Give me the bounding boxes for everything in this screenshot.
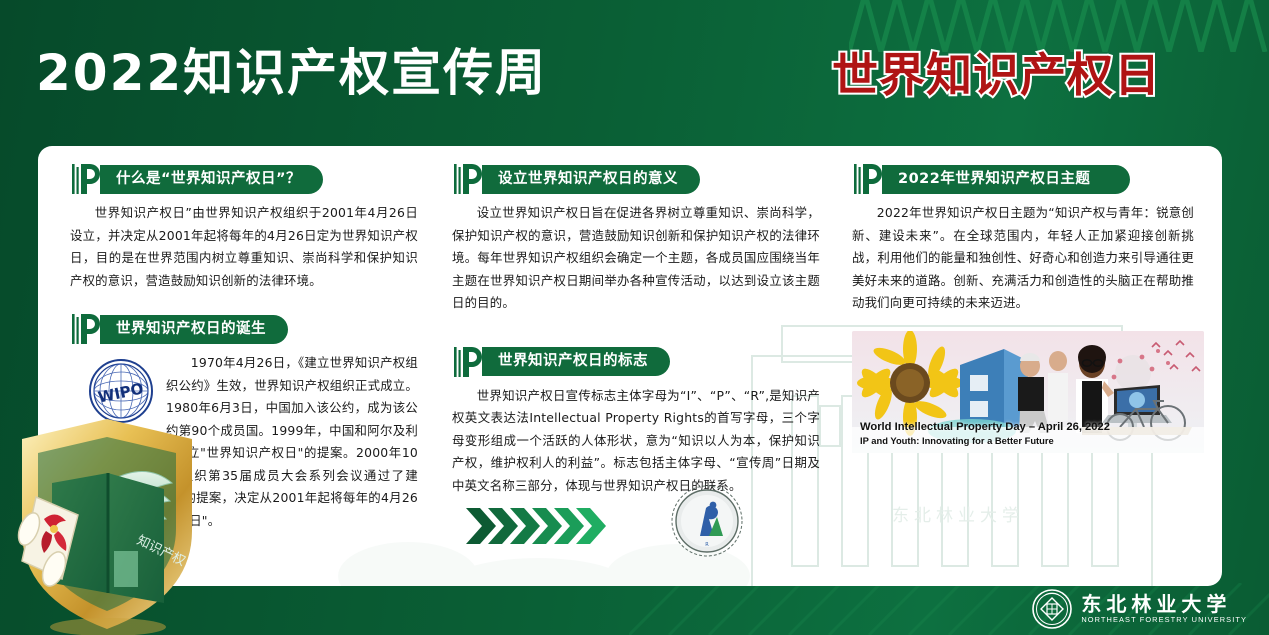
section-title-what-is: 什么是“世界知识产权日”？	[100, 165, 323, 194]
section-header-birth: 世界知识产权日的诞生	[70, 314, 418, 344]
ip-logo-icon	[452, 345, 488, 379]
section-title-significance: 设立世界知识产权日的意义	[482, 165, 700, 194]
wipo-campaign-caption: World Intellectual Property Day – April …	[860, 420, 1110, 447]
section-header-theme: 2022年世界知识产权日主题	[852, 164, 1194, 194]
campaign-caption-line2: IP and Youth: Innovating for a Better Fu…	[860, 434, 1110, 447]
university-name-cn: 东北林业大学	[1081, 593, 1247, 615]
section-body-logo-meaning: 世界知识产权日宣传标志主体字母为“I”、“P”、“R”,是知识产权英文表达法In…	[452, 385, 820, 498]
ip-day-badge-icon: R	[670, 484, 744, 558]
university-name-en: NORTHEAST FORESTRY UNIVERSITY	[1081, 615, 1247, 625]
ip-logo-icon	[452, 162, 488, 196]
section-body-significance: 设立世界知识产权日旨在促进各界树立尊重知识、崇尚科学，保护知识产权的意识，营造鼓…	[452, 202, 820, 315]
chevron-arrows-svg	[466, 506, 618, 546]
section-body-what-is: 世界知识产权日”由世界知识产权组织于2001年4月26日设立，并决定从2001年…	[70, 202, 418, 292]
ip-logo-icon	[70, 312, 106, 346]
ip-logo-icon	[852, 162, 888, 196]
section-body-theme: 2022年世界知识产权日主题为“知识产权与青年：锐意创新、建设未来”。在全球范围…	[852, 202, 1194, 315]
poster-main-title: 2022知识产权宣传周	[36, 48, 547, 98]
chevron-arrows-icon	[466, 506, 618, 546]
university-name-block: 东北林业大学 NORTHEAST FORESTRY UNIVERSITY	[1081, 593, 1247, 625]
section-header-significance: 设立世界知识产权日的意义	[452, 164, 820, 194]
section-header-logo-meaning: 世界知识产权日的标志	[452, 347, 820, 377]
university-logo: 东北林业大学 NORTHEAST FORESTRY UNIVERSITY	[1032, 589, 1247, 629]
ip-shield-book-icon: 知识产权	[0, 411, 222, 635]
section-title-logo-meaning: 世界知识产权日的标志	[482, 347, 670, 376]
poster-root: 2022知识产权宣传周 世界知识产权日 东北林业大学	[0, 0, 1269, 635]
university-emblem-icon	[1032, 589, 1072, 629]
section-title-birth: 世界知识产权日的诞生	[100, 315, 288, 344]
poster-red-title: 世界知识产权日	[832, 52, 1161, 98]
section-title-theme: 2022年世界知识产权日主题	[882, 165, 1130, 194]
ip-logo-icon	[70, 162, 106, 196]
section-header-what-is: 什么是“世界知识产权日”？	[70, 164, 418, 194]
column-middle: 设立世界知识产权日的意义 设立世界知识产权日旨在促进各界树立尊重知识、崇尚科学，…	[438, 146, 838, 586]
campaign-caption-line1: World Intellectual Property Day – April …	[860, 420, 1110, 434]
wipo-campaign-image: World Intellectual Property Day – April …	[852, 331, 1204, 453]
ip-badge-letter: R	[705, 542, 709, 548]
column-right: 2022年世界知识产权日主题 2022年世界知识产权日主题为“知识产权与青年：锐…	[838, 146, 1222, 586]
zigzag-decoration-icon	[849, 0, 1269, 52]
